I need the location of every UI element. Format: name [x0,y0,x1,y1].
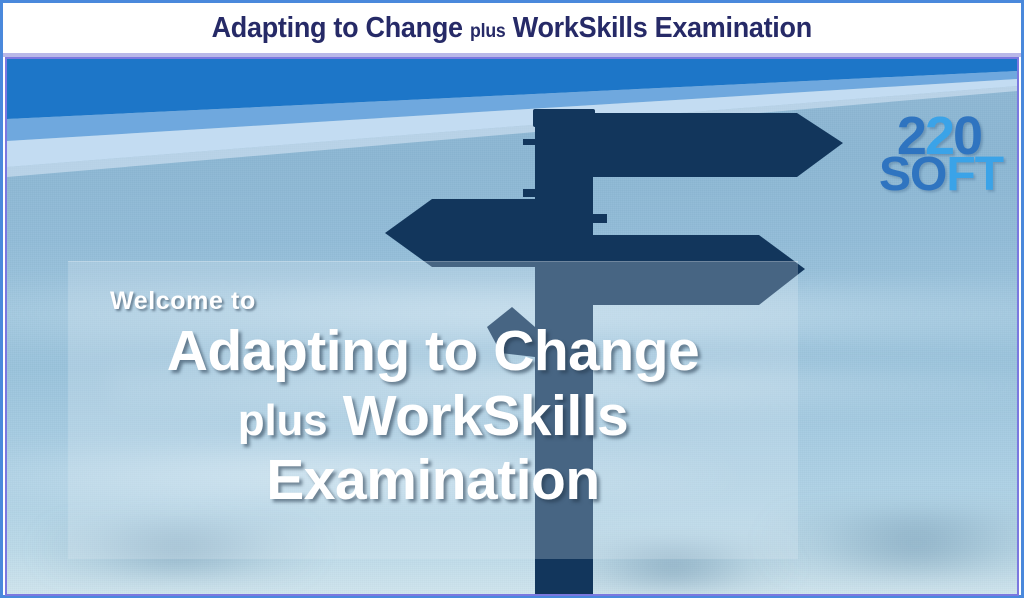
window-border-left [0,0,3,598]
window-title-bar: Adapting to Change plus WorkSkills Exami… [3,3,1021,53]
page-title-part-2: WorkSkills Examination [513,12,812,44]
banner-band-dark [7,57,1017,119]
signpost-bracket-1 [523,139,535,145]
banner-shape-group [7,57,1017,187]
signpost-cap [533,109,595,127]
slide-canvas: Welcome to Adapting to Change plus WorkS… [7,57,1017,594]
logo-digit-3: 0 [953,106,981,166]
brand-logo: 220 SOFT [879,109,999,213]
headline-workskills-word: WorkSkills [343,384,628,448]
signpost-arrow-left [385,199,535,267]
logo-digit-1: 2 [897,106,925,166]
slide-top-banner [7,57,1017,187]
headline-line-2: plus WorkSkills [238,387,628,446]
headline-line-1: Adapting to Change [167,322,699,381]
headline-line-3: Examination [266,451,599,510]
banner-band-light [7,79,1017,167]
banner-band-fade [7,86,1017,177]
welcome-label: Welcome to [110,287,256,316]
page-title-plus: plus [470,21,506,42]
slide-text-block: Welcome to Adapting to Change plus WorkS… [68,261,798,559]
signpost-arrow-upper-right [593,113,843,177]
signpost-bracket-2 [523,189,535,197]
page-title-part-1: Adapting to Change [212,12,463,44]
logo-line-220: 220 [879,109,999,163]
logo-letter-s: S [879,148,910,201]
logo-letter-f: F [946,148,974,201]
banner-band-mid [7,71,1017,141]
page-title: Adapting to Change plus WorkSkills Exami… [212,12,812,45]
logo-letter-t: T [975,148,1003,201]
logo-line-soft: SOFT [879,151,999,199]
logo-digit-2: 2 [925,106,953,166]
logo-letter-o: O [910,148,946,201]
presentation-window: Adapting to Change plus WorkSkills Exami… [0,0,1024,598]
signpost-bracket-3 [593,214,607,223]
headline-plus-word: plus [238,396,328,445]
